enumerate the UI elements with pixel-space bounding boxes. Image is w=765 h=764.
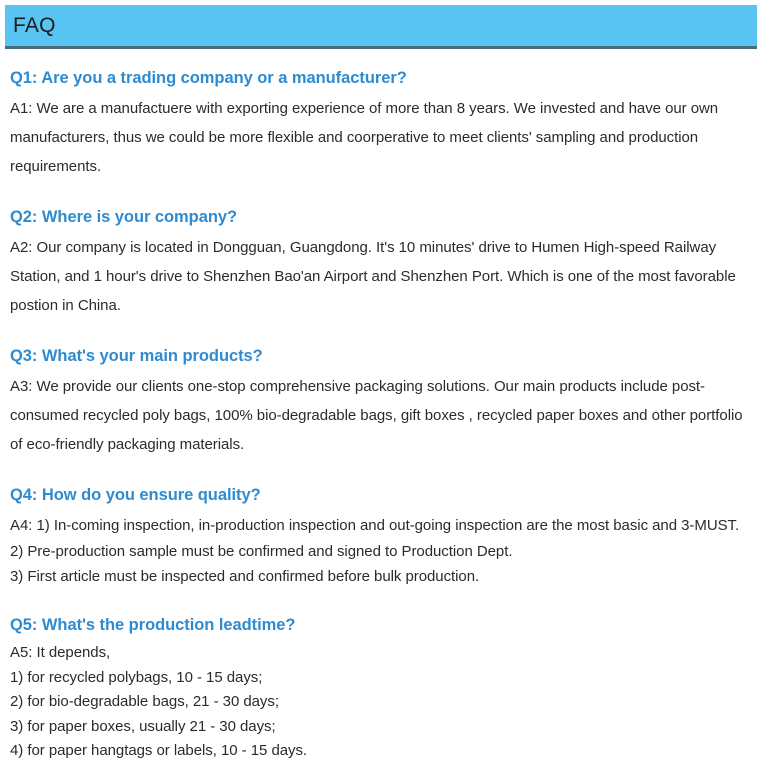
faq-item-q3: Q3: What's your main products? A3: We pr… bbox=[10, 342, 753, 459]
faq-answer-a4: A4: 1) In-coming inspection, in-producti… bbox=[10, 511, 753, 589]
faq-answer-line: 3) for paper boxes, usually 21 - 30 days… bbox=[10, 715, 753, 740]
page-title: FAQ bbox=[13, 13, 56, 39]
faq-question-q5: Q5: What's the production leadtime? bbox=[10, 611, 753, 639]
faq-question-q1: Q1: Are you a trading company or a manuf… bbox=[10, 64, 753, 92]
faq-question-q2: Q2: Where is your company? bbox=[10, 203, 753, 231]
faq-item-q1: Q1: Are you a trading company or a manuf… bbox=[10, 64, 753, 181]
faq-answer-a1: A1: We are a manufactuere with exporting… bbox=[10, 94, 753, 181]
faq-item-q4: Q4: How do you ensure quality? A4: 1) In… bbox=[10, 481, 753, 589]
faq-item-q2: Q2: Where is your company? A2: Our compa… bbox=[10, 203, 753, 320]
faq-answer-line: 1) for recycled polybags, 10 - 15 days; bbox=[10, 666, 753, 691]
faq-question-q4: Q4: How do you ensure quality? bbox=[10, 481, 753, 509]
faq-header-bar: FAQ bbox=[5, 5, 757, 49]
faq-item-q5: Q5: What's the production leadtime? A5: … bbox=[10, 611, 753, 764]
faq-answer-line: 2) Pre-production sample must be confirm… bbox=[10, 540, 753, 565]
faq-question-q3: Q3: What's your main products? bbox=[10, 342, 753, 370]
faq-answer-line: 2) for bio-degradable bags, 21 - 30 days… bbox=[10, 690, 753, 715]
faq-answer-line: 3) First article must be inspected and c… bbox=[10, 565, 753, 590]
faq-answer-line: 4) for paper hangtags or labels, 10 - 15… bbox=[10, 739, 753, 764]
faq-answer-a2: A2: Our company is located in Dongguan, … bbox=[10, 233, 753, 320]
faq-answer-line: A5: It depends, bbox=[10, 641, 753, 666]
faq-answer-a3: A3: We provide our clients one-stop comp… bbox=[10, 372, 753, 459]
faq-answer-a5: A5: It depends, 1) for recycled polybags… bbox=[10, 641, 753, 764]
faq-page: FAQ Q1: Are you a trading company or a m… bbox=[0, 0, 765, 748]
faq-content: Q1: Are you a trading company or a manuf… bbox=[0, 64, 765, 764]
faq-answer-line: A4: 1) In-coming inspection, in-producti… bbox=[10, 511, 753, 540]
